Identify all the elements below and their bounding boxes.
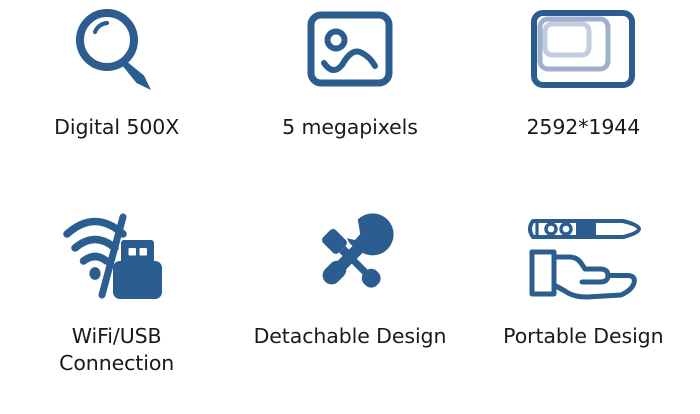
hand-holding-pen-device-icon bbox=[523, 207, 643, 307]
feature-label: Portable Design bbox=[503, 323, 663, 350]
feature-label: 2592*1944 bbox=[526, 114, 640, 141]
magnifier-icon bbox=[57, 0, 177, 100]
nested-frames-resolution-icon bbox=[523, 0, 643, 100]
feature-label: Detachable Design bbox=[254, 323, 447, 350]
photo-image-icon bbox=[290, 0, 410, 100]
feature-label: WiFi/USB Connection bbox=[59, 323, 174, 378]
feature-label: 5 megapixels bbox=[282, 114, 418, 141]
screwdriver-wrench-icon bbox=[290, 207, 410, 307]
wifi-usb-icon bbox=[57, 207, 177, 307]
feature-item-resolution: 2592*1944 bbox=[467, 0, 700, 207]
feature-label: Digital 500X bbox=[54, 114, 179, 141]
feature-item-portable: Portable Design bbox=[467, 207, 700, 414]
feature-item-digital-zoom: Digital 500X bbox=[0, 0, 233, 207]
feature-item-megapixels: 5 megapixels bbox=[233, 0, 466, 207]
feature-item-connection: WiFi/USB Connection bbox=[0, 207, 233, 414]
feature-item-detachable: Detachable Design bbox=[233, 207, 466, 414]
feature-grid: Digital 500X 5 megapixels 25 bbox=[0, 0, 700, 414]
